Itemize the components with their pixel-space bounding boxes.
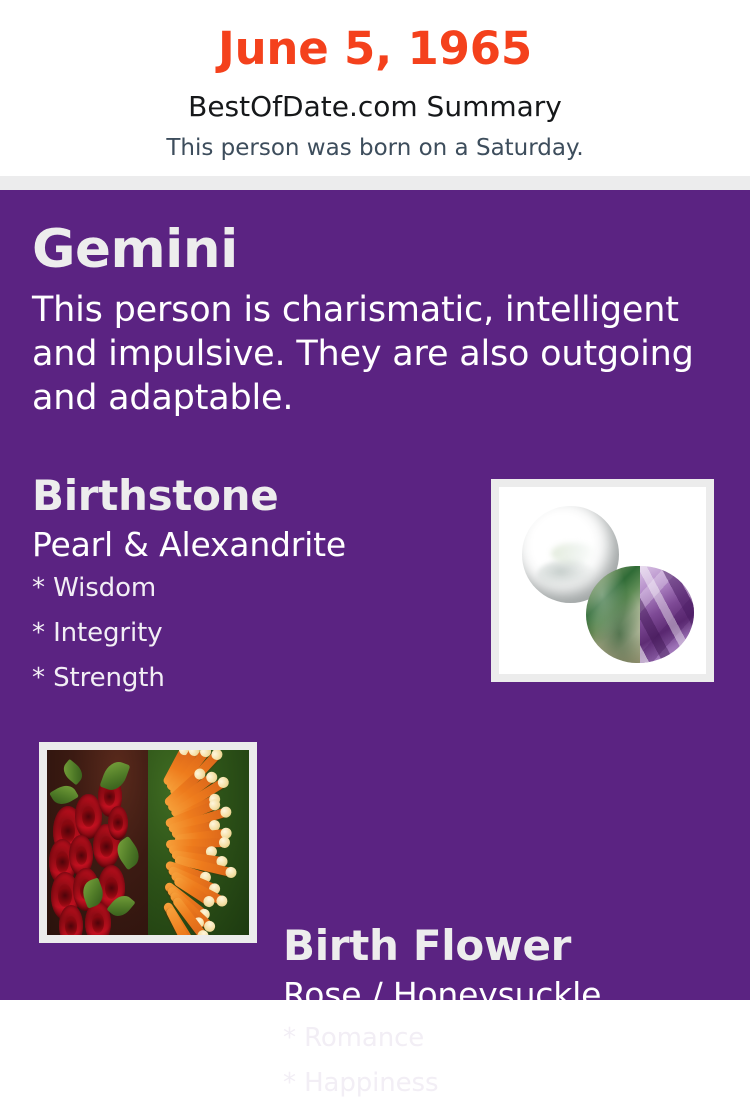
list-item: * Happiness [283, 1070, 733, 1115]
rose-leaf-icon [60, 759, 87, 786]
alexandrite-gem-icon [586, 566, 694, 663]
date-summary-card: June 5, 1965 BestOfDate.com Summary This… [0, 0, 750, 1000]
page-title-date: June 5, 1965 [0, 18, 750, 71]
birth-flower-section: Birth Flower Rose / Honeysuckle * Romanc… [283, 925, 733, 1115]
zodiac-description: This person is charismatic, intelligent … [32, 276, 712, 420]
weekday-statement: This person was born on a Saturday. [0, 121, 750, 160]
list-item: * Wisdom [32, 575, 472, 620]
list-item: * Integrity [32, 620, 472, 665]
list-item: * Romance [283, 1025, 733, 1070]
zodiac-section: Gemini This person is charismatic, intel… [32, 223, 712, 420]
zodiac-sign-title: Gemini [32, 223, 712, 276]
birth-flower-photo [39, 742, 257, 943]
birthstone-traits-list: * Wisdom * Integrity * Strength [32, 561, 472, 710]
alexandrite-faceted-half [640, 566, 694, 663]
header: June 5, 1965 BestOfDate.com Summary This… [0, 0, 750, 176]
roses-image-half [47, 750, 148, 935]
rose-bloom-icon [59, 905, 83, 935]
alexandrite-rough-half [586, 566, 640, 663]
birthstone-photo [491, 479, 714, 682]
site-summary-label: BestOfDate.com Summary [0, 71, 750, 121]
birthstone-section: Birthstone Pearl & Alexandrite * Wisdom … [32, 475, 472, 710]
rose-bloom-icon [108, 806, 128, 840]
honeysuckle-image-half [148, 750, 249, 935]
flower-split-image [47, 750, 249, 935]
header-divider [0, 176, 750, 190]
birth-flower-name: Rose / Honeysuckle [283, 967, 733, 1011]
list-item: * Strength [32, 665, 472, 710]
birth-flower-title: Birth Flower [283, 925, 733, 967]
birthstone-title: Birthstone [32, 475, 472, 517]
birthstone-photo-inner [499, 487, 706, 674]
rose-leaf-icon [49, 781, 79, 809]
birth-flower-traits-list: * Romance * Happiness [283, 1011, 733, 1115]
birth-flower-photo-inner [47, 750, 249, 935]
birthstone-name: Pearl & Alexandrite [32, 517, 472, 561]
